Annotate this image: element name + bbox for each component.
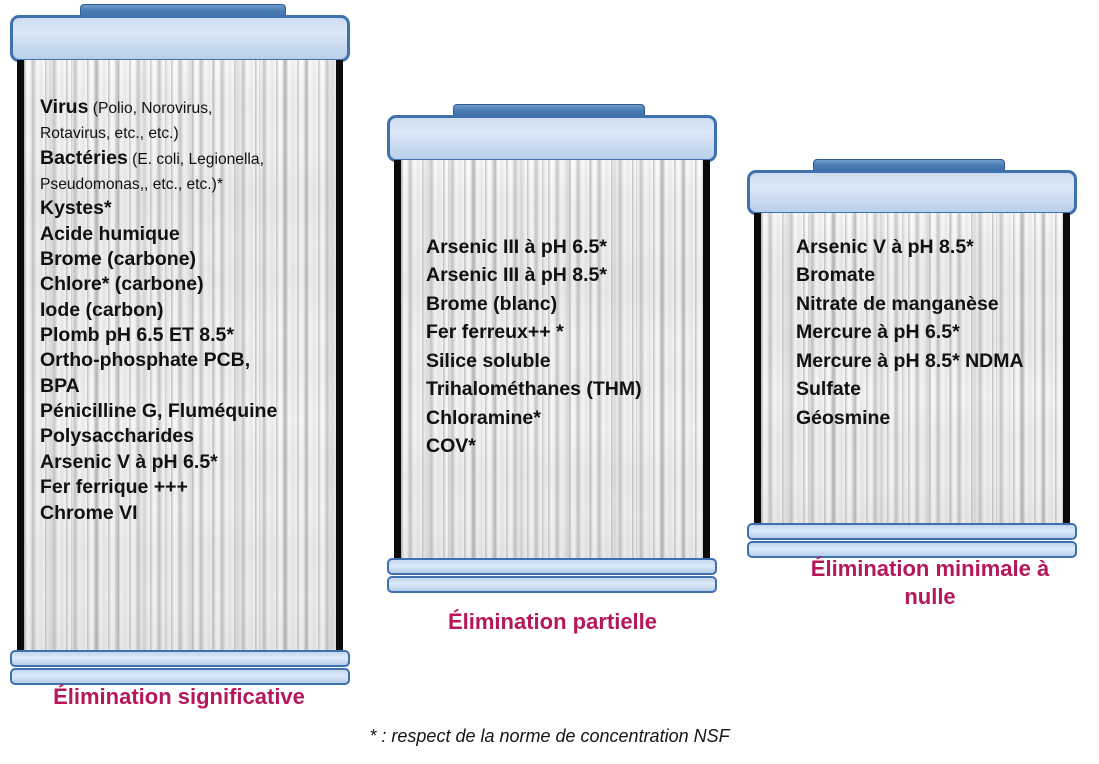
list-item: Mercure à pH 6.5*: [796, 318, 1096, 346]
item-main: Arsenic III à pH 6.5*: [426, 236, 607, 258]
item-main: Polysaccharides: [40, 425, 194, 447]
filter-top-cap: [387, 115, 717, 162]
list-item: Kystes*: [40, 196, 340, 221]
item-sub: (Polio, Norovirus,: [88, 100, 212, 117]
list-item: Arsenic V à pH 8.5*: [796, 233, 1096, 261]
item-main: Silice soluble: [426, 350, 551, 372]
list-item: BPA: [40, 374, 340, 399]
item-main: Chlore* (carbone): [40, 273, 204, 295]
diagram-canvas: Virus (Polio, Norovirus, Rotavirus, etc.…: [0, 0, 1099, 764]
list-item: Silice soluble: [426, 347, 716, 375]
item-main: Brome (carbone): [40, 248, 196, 270]
item-main: COV*: [426, 435, 476, 457]
list-item: Géosmine: [796, 404, 1096, 432]
item-main: Kystes*: [40, 197, 112, 219]
contaminant-list-minimale-nulle: Arsenic V à pH 8.5* Bromate Nitrate de m…: [796, 233, 1096, 432]
list-item: COV*: [426, 432, 716, 460]
item-main: Chrome VI: [40, 502, 138, 524]
list-item: Fer ferreux++ *: [426, 318, 716, 346]
item-main: Arsenic V à pH 8.5*: [796, 236, 974, 258]
filter-base-bar-upper: [387, 558, 717, 575]
list-item: Plomb pH 6.5 ET 8.5*: [40, 323, 340, 348]
list-item: Polysaccharides: [40, 424, 340, 449]
list-item: Chloramine*: [426, 404, 716, 432]
contaminant-list-significative: Virus (Polio, Norovirus, Rotavirus, etc.…: [40, 95, 340, 526]
item-main: Ortho-phosphate PCB,: [40, 349, 250, 371]
list-item: Pénicilline G, Fluméquine: [40, 399, 340, 424]
item-main: Sulfate: [796, 378, 861, 400]
list-item: Nitrate de manganèse: [796, 290, 1096, 318]
list-item: Brome (blanc): [426, 290, 716, 318]
item-main: Mercure à pH 8.5* NDMA: [796, 350, 1024, 372]
filter-cartridge-minimale-nulle: Arsenic V à pH 8.5* Bromate Nitrate de m…: [740, 155, 1085, 565]
filter-cartridge-significative: Virus (Polio, Norovirus, Rotavirus, etc.…: [0, 0, 360, 710]
list-item: Ortho-phosphate PCB,: [40, 348, 340, 373]
item-main: Bromate: [796, 264, 875, 286]
list-item: Virus (Polio, Norovirus,: [40, 95, 340, 120]
list-item: Sulfate: [796, 375, 1096, 403]
list-item: Bactéries (E. coli, Legionella,: [40, 146, 340, 171]
list-item: Trihalométhanes (THM): [426, 375, 716, 403]
filter-base-bar-lower: [387, 576, 717, 593]
filter-base-bar-upper: [747, 523, 1077, 540]
list-item: Arsenic V à pH 6.5*: [40, 450, 340, 475]
list-item: Fer ferrique +++: [40, 475, 340, 500]
list-item: Arsenic III à pH 8.5*: [426, 261, 716, 289]
list-item: Mercure à pH 8.5* NDMA: [796, 347, 1096, 375]
item-main: Arsenic V à pH 6.5*: [40, 451, 218, 473]
list-item: Rotavirus, etc., etc.): [40, 120, 340, 145]
footnote-nsf: * : respect de la norme de concentration…: [0, 726, 1099, 747]
item-main: Bactéries: [40, 147, 128, 169]
item-main: Géosmine: [796, 407, 890, 429]
list-item: Arsenic III à pH 6.5*: [426, 233, 716, 261]
filter-top-cap: [10, 15, 350, 62]
list-item: Bromate: [796, 261, 1096, 289]
item-main: Iode (carbon): [40, 299, 164, 321]
list-item: Acide humique: [40, 222, 340, 247]
item-main: BPA: [40, 375, 80, 397]
contaminant-list-partielle: Arsenic III à pH 6.5* Arsenic III à pH 8…: [426, 233, 716, 461]
item-main: Virus: [40, 96, 88, 118]
caption-minimale-nulle: Élimination minimale à nulle: [790, 555, 1070, 610]
caption-significative: Élimination significative: [0, 683, 358, 711]
item-main: Brome (blanc): [426, 293, 557, 315]
list-item: Chrome VI: [40, 501, 340, 526]
item-sub: (E. coli, Legionella,: [128, 151, 264, 168]
list-item: Brome (carbone): [40, 247, 340, 272]
item-main: Arsenic III à pH 8.5*: [426, 264, 607, 286]
filter-top-cap: [747, 170, 1077, 215]
list-item: Pseudomonas,, etc., etc.)*: [40, 171, 340, 196]
item-main: Fer ferreux++ *: [426, 321, 564, 343]
list-item: Iode (carbon): [40, 298, 340, 323]
item-main: Mercure à pH 6.5*: [796, 321, 960, 343]
filter-base-bar-upper: [10, 650, 350, 667]
filter-cartridge-partielle: Arsenic III à pH 6.5* Arsenic III à pH 8…: [380, 100, 725, 600]
caption-partielle: Élimination partielle: [380, 608, 725, 636]
item-main: Pénicilline G, Fluméquine: [40, 400, 277, 422]
item-main: Trihalométhanes (THM): [426, 378, 642, 400]
item-main: Acide humique: [40, 223, 180, 245]
item-main: Plomb pH 6.5 ET 8.5*: [40, 324, 234, 346]
item-main: Nitrate de manganèse: [796, 293, 999, 315]
item-sub: Pseudomonas,, etc., etc.)*: [40, 176, 223, 193]
list-item: Chlore* (carbone): [40, 272, 340, 297]
item-main: Fer ferrique +++: [40, 476, 188, 498]
item-main: Chloramine*: [426, 407, 541, 429]
item-sub: Rotavirus, etc., etc.): [40, 125, 179, 142]
